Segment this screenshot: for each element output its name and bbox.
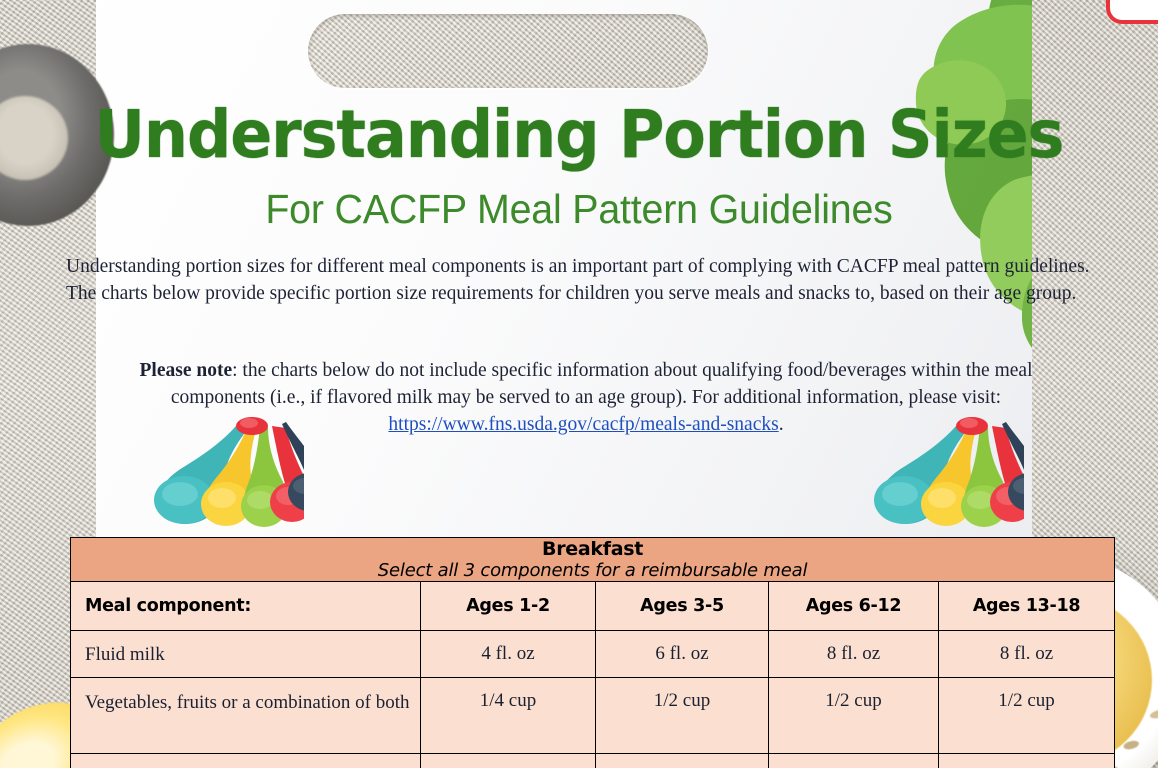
row-value: 8 fl. oz [769, 631, 939, 678]
please-note-label: Please note [140, 360, 233, 381]
column-header-ages-3-5: Ages 3-5 [596, 582, 769, 631]
page-subtitle: For CACFP Meal Pattern Guidelines [23, 186, 1135, 233]
column-header-ages-6-12: Ages 6-12 [769, 582, 939, 631]
row-component-label: Fluid milk [71, 631, 421, 678]
row-value [769, 754, 939, 768]
page-title: Understanding Portion Sizes [35, 96, 1124, 173]
row-value: 8 fl. oz [939, 631, 1115, 678]
meal-subtitle: Select all 3 components for a reimbursab… [71, 560, 1114, 581]
row-component-label: Vegetables, fruits or a combination of b… [71, 678, 421, 754]
row-component-label [71, 754, 421, 768]
column-header-ages-1-2: Ages 1-2 [421, 582, 596, 631]
column-header-ages-13-18: Ages 13-18 [939, 582, 1115, 631]
cacfp-meals-and-snacks-link[interactable]: https://www.fns.usda.gov/cacfp/meals-and… [388, 414, 778, 435]
row-value: 6 fl. oz [596, 631, 769, 678]
meal-name: Breakfast [71, 538, 1114, 560]
please-note-trailing: . [779, 414, 784, 435]
row-value: 1/2 cup [769, 678, 939, 754]
table-row [71, 754, 1115, 768]
measuring-spoons-icon [136, 416, 304, 534]
row-value [596, 754, 769, 768]
breakfast-portion-table: Breakfast Select all 3 components for a … [70, 537, 1115, 768]
meal-band: Breakfast Select all 3 components for a … [71, 538, 1115, 582]
measuring-spoons-icon [856, 416, 1024, 534]
intro-paragraph: Understanding portion sizes for differen… [66, 254, 1090, 307]
table-meal-band-row: Breakfast Select all 3 components for a … [71, 538, 1115, 582]
row-value: 1/2 cup [596, 678, 769, 754]
table-header-row: Meal component: Ages 1-2 Ages 3-5 Ages 6… [71, 582, 1115, 631]
table-row: Vegetables, fruits or a combination of b… [71, 678, 1115, 754]
row-value [939, 754, 1115, 768]
row-value [421, 754, 596, 768]
row-value: 1/4 cup [421, 678, 596, 754]
row-value: 4 fl. oz [421, 631, 596, 678]
please-note-text: : the charts below do not include specif… [171, 360, 1033, 408]
column-header-component: Meal component: [71, 582, 421, 631]
row-value: 1/2 cup [939, 678, 1115, 754]
table-row: Fluid milk 4 fl. oz 6 fl. oz 8 fl. oz 8 … [71, 631, 1115, 678]
